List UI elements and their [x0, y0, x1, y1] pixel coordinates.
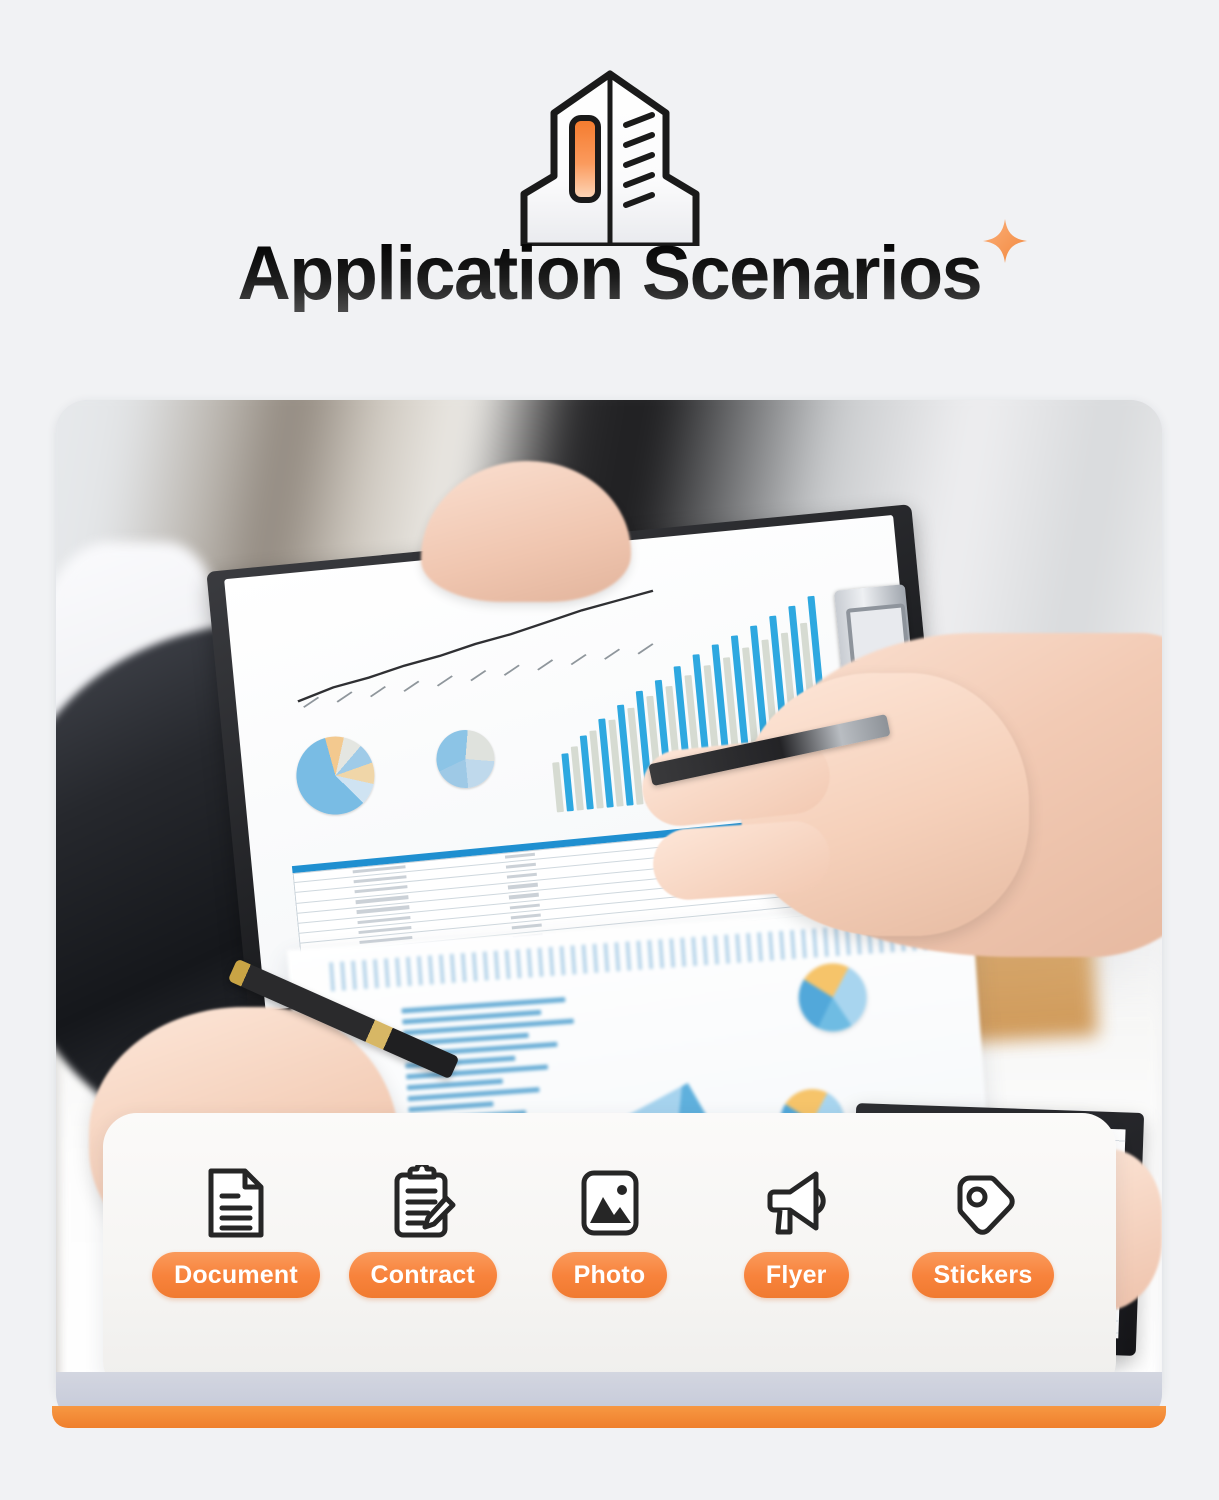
pie-charts-art [287, 707, 576, 820]
scenario-label-photo[interactable]: Photo [552, 1252, 668, 1298]
document-page-icon [205, 1165, 267, 1241]
price-tag-icon [948, 1165, 1018, 1241]
scenario-item-photo[interactable]: Photo [519, 1165, 701, 1298]
scenario-chip-panel: Document Contract [103, 1113, 1116, 1395]
scenario-label-flyer[interactable]: Flyer [744, 1252, 849, 1298]
scenario-label-document[interactable]: Document [152, 1252, 320, 1298]
megaphone-icon [760, 1165, 832, 1241]
page-title-row: Application Scenarios [0, 236, 1219, 312]
pie-chart-small [434, 727, 497, 790]
orange-accent-bar [52, 1406, 1166, 1428]
building-document-logo-icon [500, 66, 720, 246]
desk-pie-chart-1 [797, 961, 870, 1034]
scenario-label-stickers[interactable]: Stickers [912, 1252, 1055, 1298]
scenario-list: Document Contract [145, 1165, 1074, 1298]
scenario-label-contract[interactable]: Contract [349, 1252, 497, 1298]
scenario-item-contract[interactable]: Contract [332, 1165, 514, 1298]
page-title: Application Scenarios [238, 236, 982, 312]
finger [651, 819, 832, 902]
scenario-item-flyer[interactable]: Flyer [705, 1165, 887, 1298]
sparkle-star-icon [977, 213, 1033, 269]
scenario-item-document[interactable]: Document [145, 1165, 327, 1298]
scenario-item-stickers[interactable]: Stickers [892, 1165, 1074, 1298]
pie-chart-large [293, 733, 378, 818]
clipboard-pencil-icon [390, 1165, 456, 1241]
image-picture-icon [576, 1165, 644, 1241]
page-header: Application Scenarios [0, 0, 1219, 392]
